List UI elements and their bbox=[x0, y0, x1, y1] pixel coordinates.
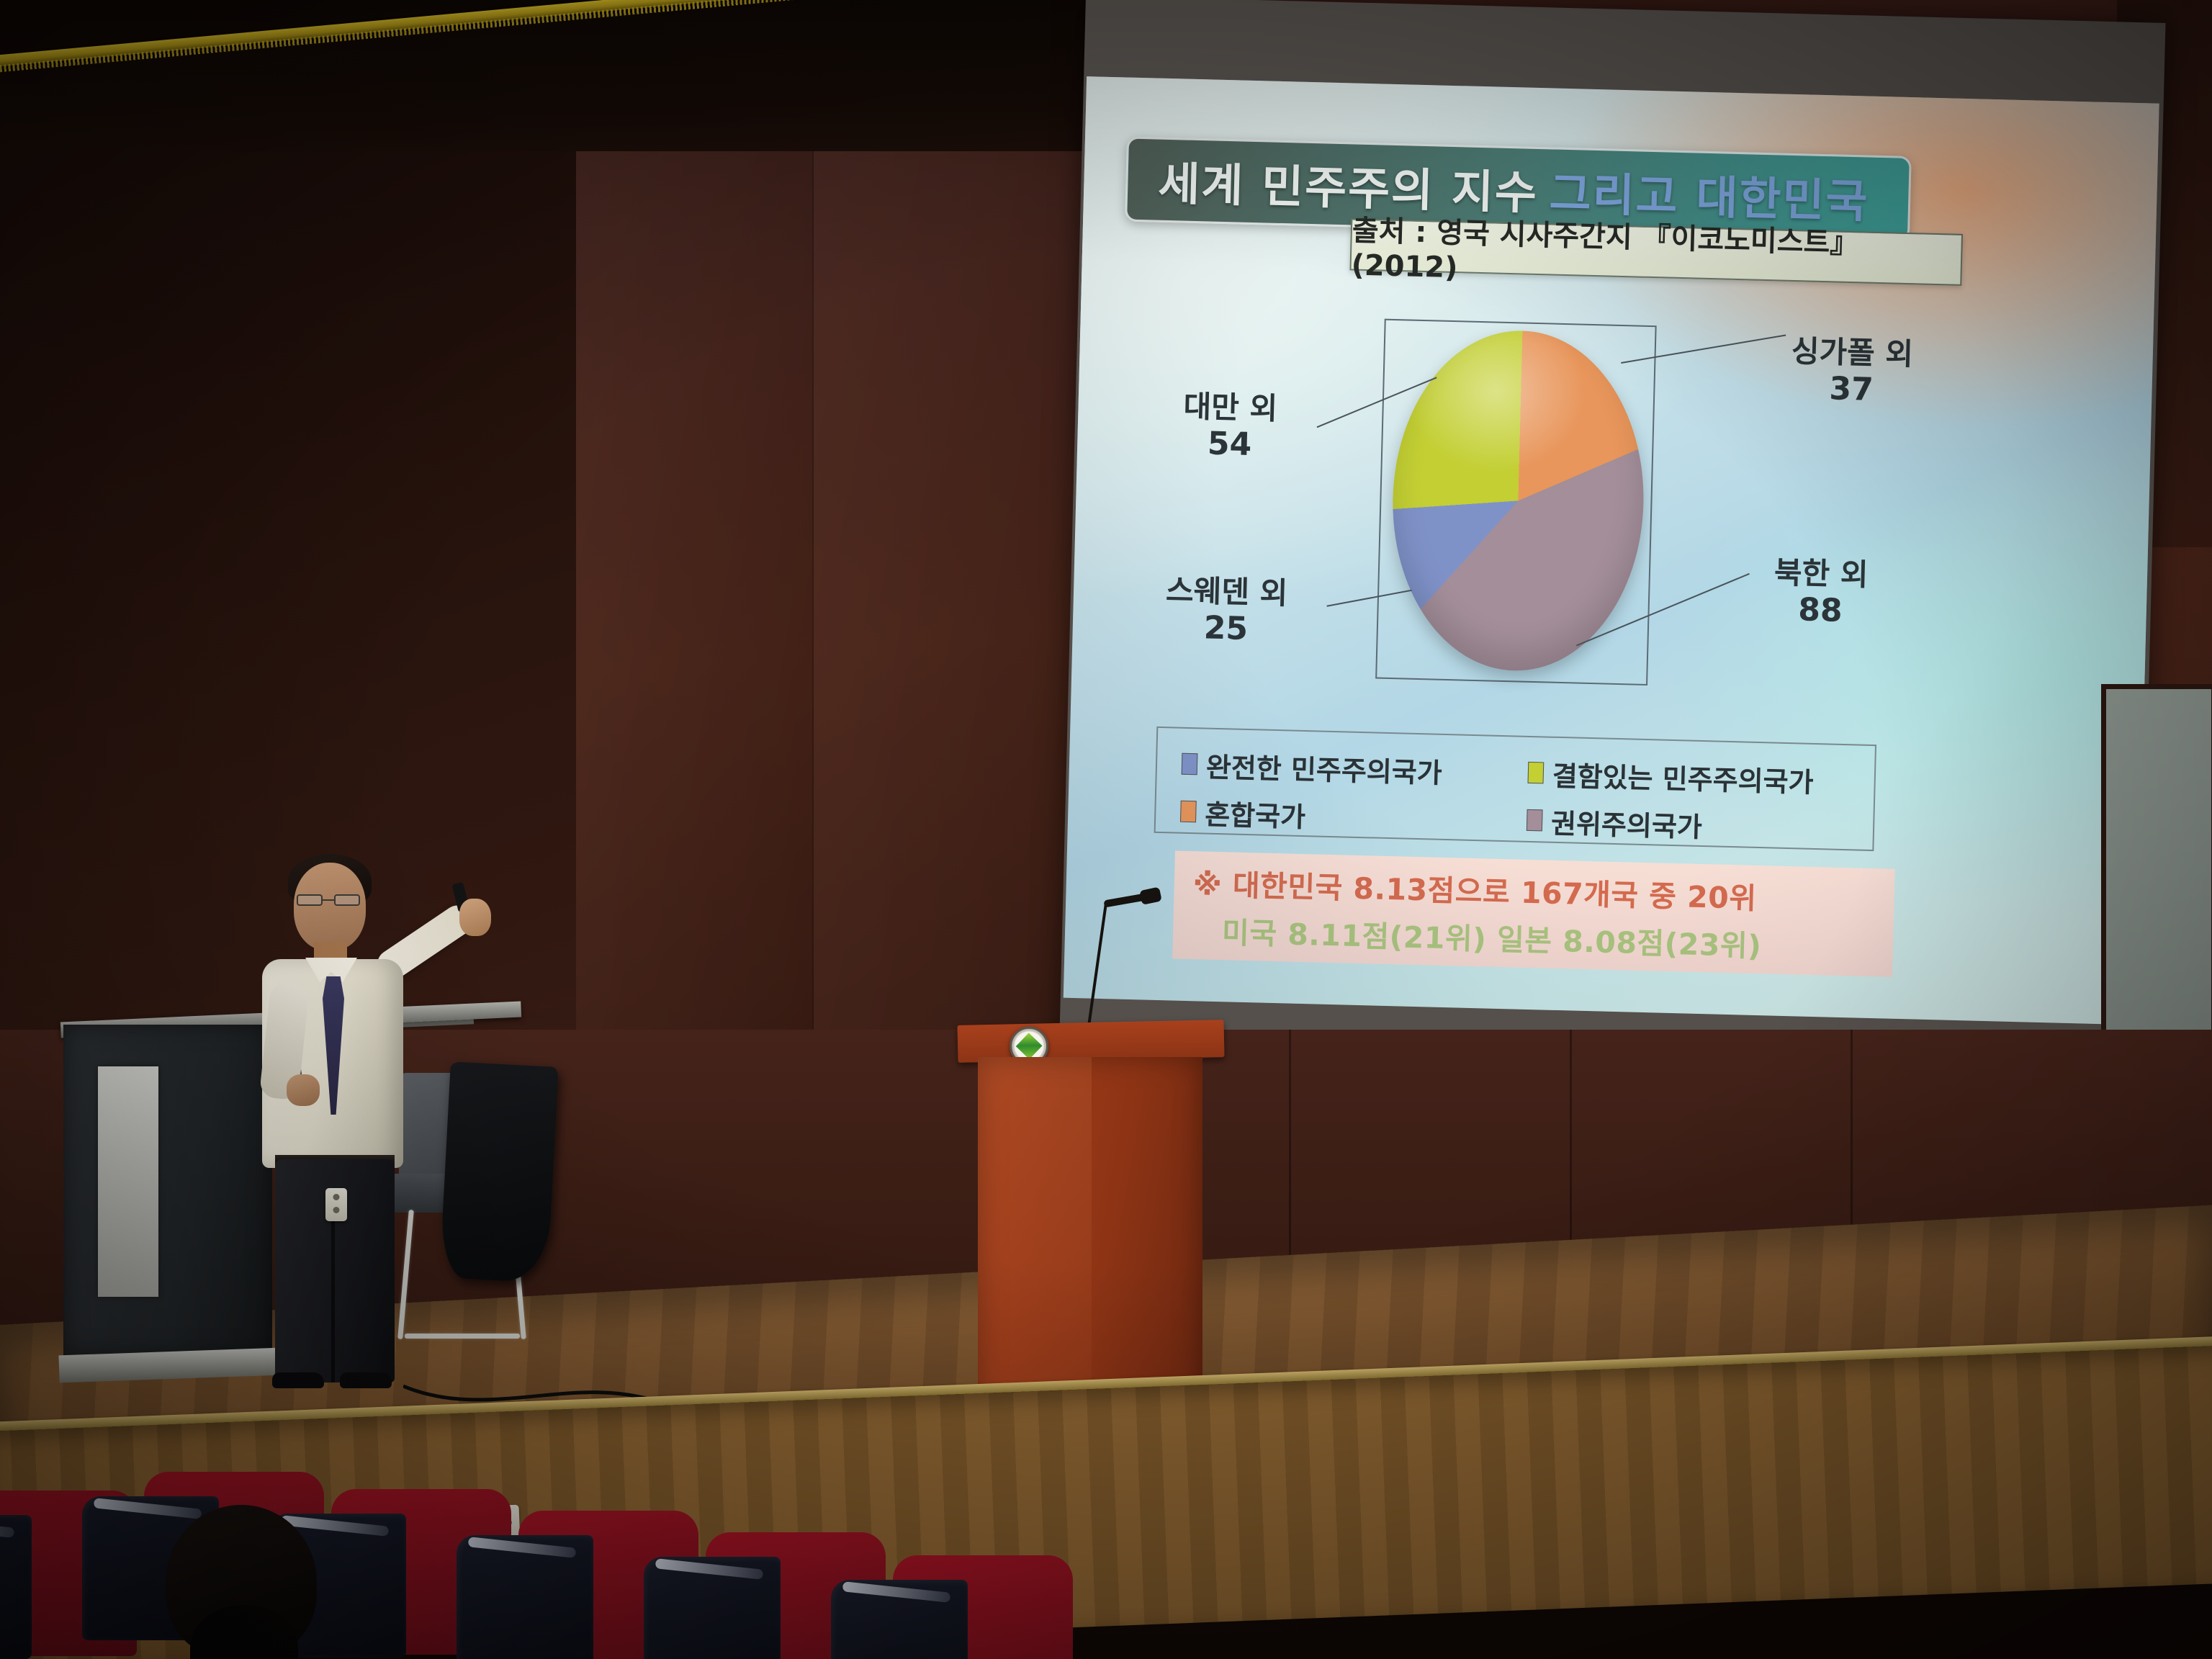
speaker bbox=[230, 850, 461, 1397]
callout-taiwan-value: 54 bbox=[1182, 424, 1277, 464]
legend-label-full-democracy: 완전한 민주주의국가 bbox=[1205, 745, 1442, 790]
legend-item-hybrid: 혼합국가 bbox=[1180, 788, 1528, 844]
presentation-slide: 세계 민주주의 지수 그리고 대한민국 출처 : 영국 시사주간지 『이코노미스… bbox=[1064, 76, 2159, 1025]
glasses-icon bbox=[297, 894, 363, 906]
callout-north-korea-value: 88 bbox=[1773, 590, 1868, 630]
podium-top bbox=[957, 1020, 1224, 1063]
callout-sweden-value: 25 bbox=[1164, 608, 1287, 649]
legend-label-authoritarian: 권위주의국가 bbox=[1551, 801, 1703, 844]
callout-north-korea: 북한 외 88 bbox=[1773, 554, 1869, 630]
seat[interactable] bbox=[893, 1555, 1073, 1659]
callout-singapore-name: 싱가폴 외 bbox=[1791, 333, 1913, 372]
podium-body bbox=[978, 1057, 1202, 1424]
chart-legend: 완전한 민주주의국가 결함있는 민주주의국가 혼합국가 권위주의국가 bbox=[1154, 727, 1876, 851]
screenshot-root: 세계 민주주의 지수 그리고 대한민국 출처 : 영국 시사주간지 『이코노미스… bbox=[0, 0, 2212, 1659]
whiteboard bbox=[2101, 684, 2212, 1073]
callout-north-korea-name: 북한 외 bbox=[1773, 554, 1869, 593]
stage-curtain bbox=[0, 0, 1123, 151]
legend-swatch-full-democracy bbox=[1182, 753, 1198, 775]
legend-swatch-authoritarian bbox=[1527, 809, 1543, 832]
wall-panel bbox=[814, 0, 1102, 1051]
lectern-panel bbox=[98, 1066, 158, 1297]
legend-label-flawed-democracy: 결함있는 민주주의국가 bbox=[1552, 753, 1814, 799]
callout-taiwan: 대만 외 54 bbox=[1182, 389, 1278, 464]
speaker-right-hand bbox=[287, 1074, 320, 1106]
legend-swatch-hybrid bbox=[1180, 801, 1197, 823]
legend-swatch-flawed-democracy bbox=[1528, 762, 1545, 784]
audience-member-head bbox=[166, 1505, 317, 1659]
callout-taiwan-name: 대만 외 bbox=[1183, 389, 1278, 427]
callout-singapore: 싱가폴 외 37 bbox=[1790, 333, 1914, 410]
speaker-head bbox=[294, 863, 366, 950]
legend-item-full-democracy: 완전한 민주주의국가 bbox=[1181, 740, 1529, 796]
wall-panel bbox=[569, 0, 814, 1051]
speaker-shoe bbox=[272, 1372, 324, 1388]
slide-source-text: 출처 : 영국 시사주간지 『이코노미스트』(2012) bbox=[1351, 207, 1961, 297]
slide-footnote-box: ※ 대한민국 8.13점으로 167개국 중 20위 미국 8.11점(21위)… bbox=[1172, 851, 1894, 977]
callout-sweden: 스웨덴 외 25 bbox=[1164, 572, 1288, 649]
callout-singapore-value: 37 bbox=[1790, 369, 1912, 409]
legend-label-hybrid: 혼합국가 bbox=[1205, 792, 1306, 835]
wall-switch bbox=[325, 1188, 347, 1221]
speaker-shoe bbox=[340, 1372, 392, 1388]
speaker-left-hand bbox=[459, 899, 491, 936]
slide-source-box: 출처 : 영국 시사주간지 『이코노미스트』(2012) bbox=[1349, 218, 1963, 285]
callout-sweden-name: 스웨덴 외 bbox=[1166, 572, 1288, 611]
legend-item-authoritarian: 권위주의국가 bbox=[1526, 796, 1874, 853]
projection-screen: 세계 민주주의 지수 그리고 대한민국 출처 : 영국 시사주간지 『이코노미스… bbox=[1058, 0, 2165, 1102]
legend-item-flawed-democracy: 결함있는 민주주의국가 bbox=[1527, 749, 1875, 805]
